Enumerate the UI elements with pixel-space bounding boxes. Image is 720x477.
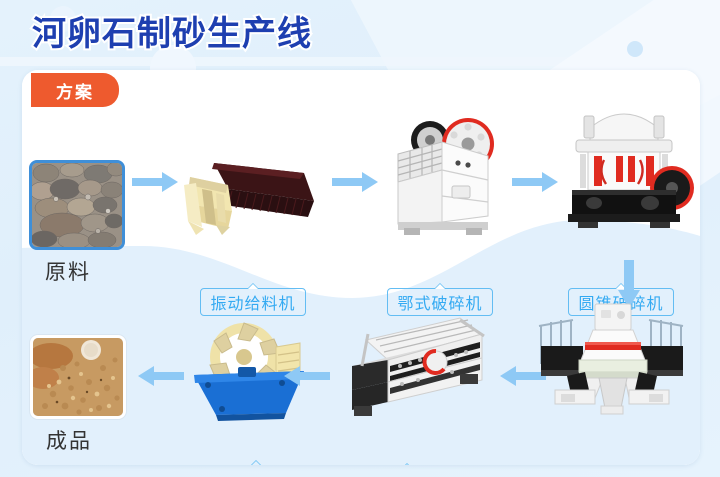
finished-sand-photo <box>30 335 126 419</box>
arrow-cone-to-vsi <box>618 260 640 308</box>
arrow-washer-to-product <box>138 366 184 386</box>
flowchart-card: 方案 <box>22 70 700 465</box>
background-band <box>0 57 720 66</box>
arrow-raw-to-feeder <box>132 172 178 192</box>
background-circle-2 <box>627 41 643 57</box>
infographic-root: 河卵石制砂生产线 方案 <box>0 0 720 477</box>
stage-finished-product[interactable]: 成品 <box>30 335 126 419</box>
caption-notch-icon <box>434 283 446 289</box>
stage-caption-finished-product: 成品 <box>46 425 92 455</box>
caption-notch-icon <box>247 283 259 289</box>
stage-caption-vibrating-feeder: 振动给料机 <box>200 288 306 316</box>
caption-notch-icon <box>401 463 413 465</box>
page-title: 河卵石制砂生产线 <box>32 12 312 56</box>
vibrating-feeder-icon <box>182 155 322 237</box>
arrow-screen-to-washer <box>284 366 330 386</box>
jaw-crusher-icon <box>380 112 510 237</box>
river-pebbles-photo <box>29 160 125 250</box>
plan-tag: 方案 <box>31 73 119 107</box>
stage-caption-raw-material: 原料 <box>45 256 91 286</box>
vibrating-screen-icon <box>332 310 494 420</box>
arrow-jaw-to-cone <box>512 172 558 192</box>
caption-notch-icon <box>250 460 262 465</box>
arrow-feeder-to-jaw <box>332 172 378 192</box>
cone-crusher-icon <box>554 96 694 238</box>
caption-text: 振动给料机 <box>210 290 295 314</box>
stage-raw-material[interactable]: 原料 <box>29 160 125 250</box>
vsi-sand-maker-icon <box>527 302 697 422</box>
